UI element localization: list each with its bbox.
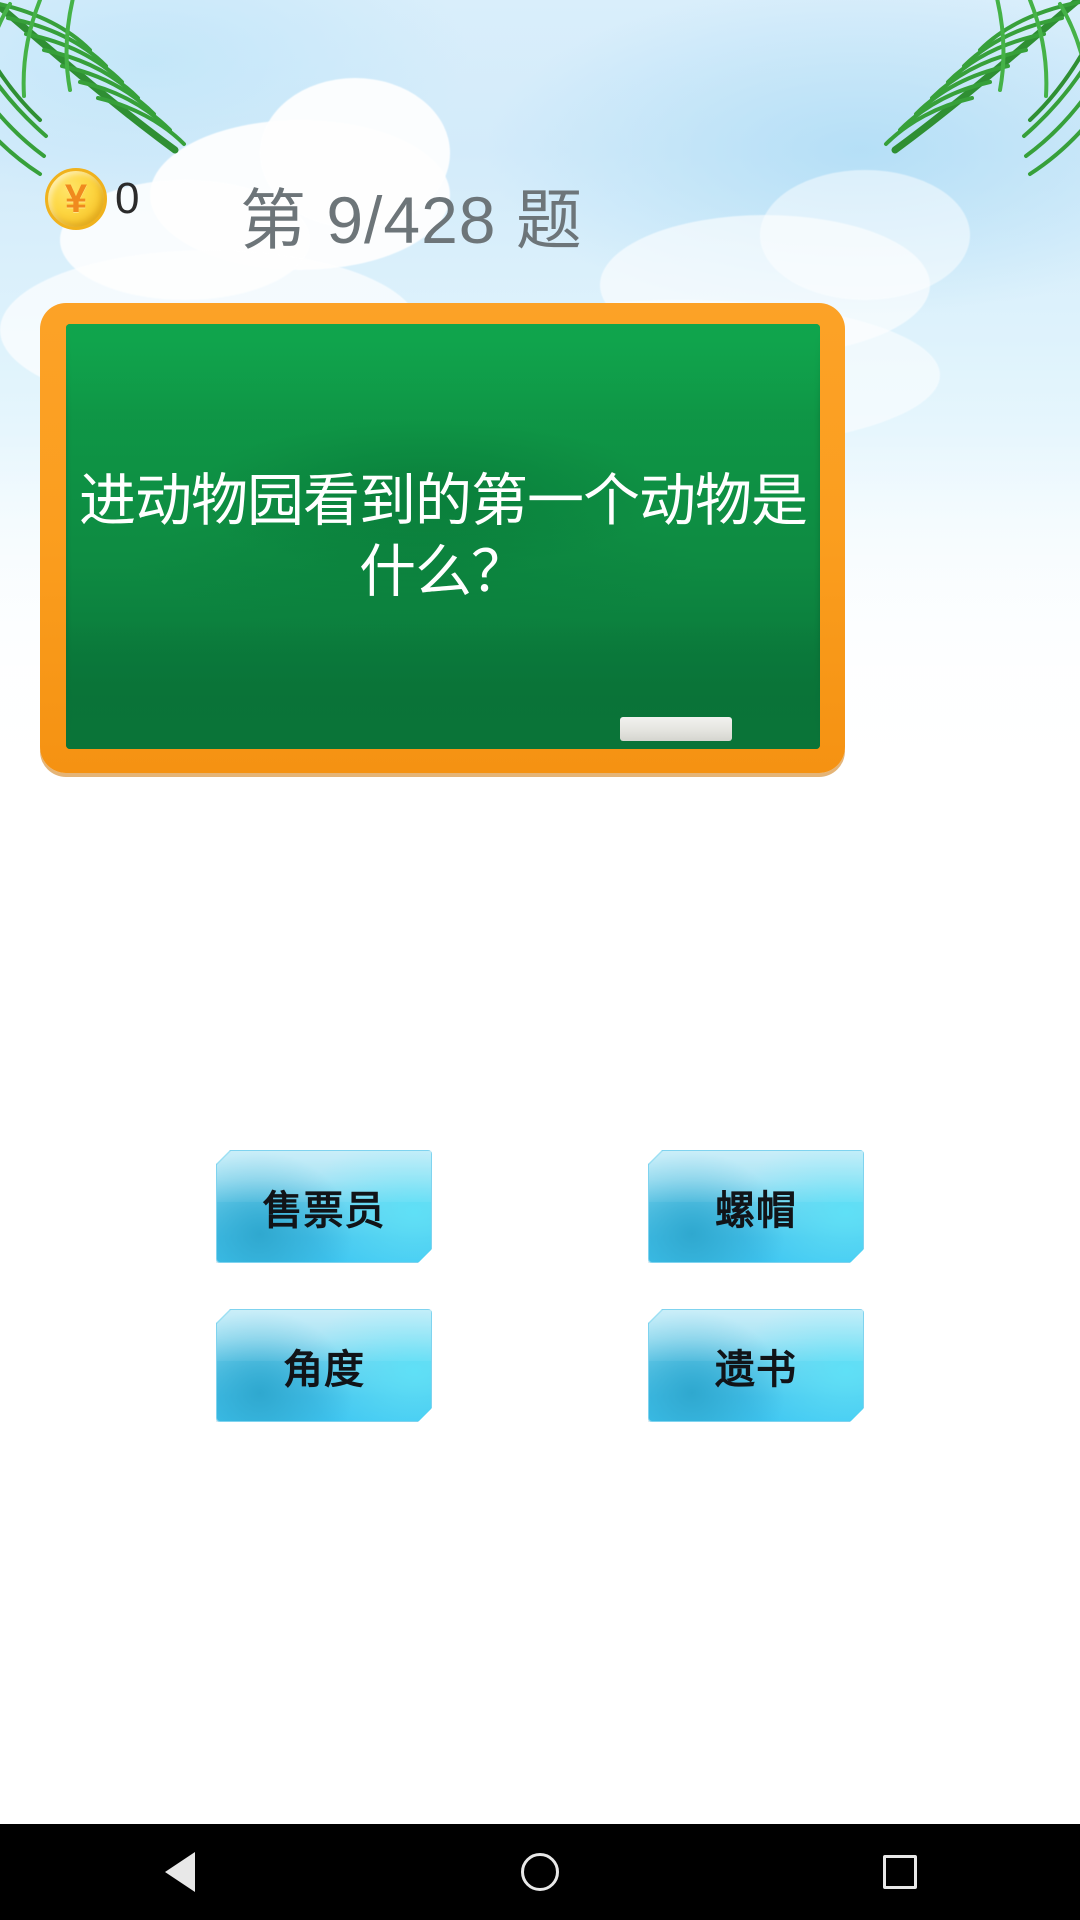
game-screen: ¥ 0 第 9/428 题 进动物园看到的第一个动物是什么？ 售票员 螺帽 角度… bbox=[0, 0, 1080, 1920]
android-navigation-bar bbox=[0, 1824, 1080, 1920]
coin-counter[interactable]: ¥ 0 bbox=[45, 168, 139, 230]
answer-label: 遗书 bbox=[715, 1337, 797, 1395]
nav-home-button[interactable] bbox=[485, 1824, 595, 1920]
board-highlight bbox=[66, 324, 820, 416]
coin-yen-icon: ¥ bbox=[45, 168, 107, 230]
nav-recents-button[interactable] bbox=[845, 1824, 955, 1920]
answer-option-1[interactable]: 售票员 bbox=[216, 1150, 432, 1263]
answer-label: 螺帽 bbox=[715, 1178, 797, 1236]
answer-option-3[interactable]: 角度 bbox=[216, 1309, 432, 1422]
answer-option-4[interactable]: 遗书 bbox=[648, 1309, 864, 1422]
cloud-shape bbox=[560, 790, 960, 930]
coin-symbol: ¥ bbox=[65, 179, 87, 219]
cloud-shape bbox=[120, 800, 540, 950]
back-triangle-icon bbox=[165, 1852, 195, 1892]
page-title: 第 9/428 题 bbox=[240, 160, 800, 270]
recents-square-icon bbox=[883, 1855, 917, 1889]
header-bar: ¥ 0 第 9/428 题 bbox=[0, 160, 1080, 270]
question-text: 进动物园看到的第一个动物是什么？ bbox=[66, 465, 820, 608]
chalk-eraser-icon bbox=[620, 717, 732, 741]
home-circle-icon bbox=[521, 1853, 559, 1891]
nav-back-button[interactable] bbox=[125, 1824, 235, 1920]
blackboard-frame: 进动物园看到的第一个动物是什么？ bbox=[40, 303, 845, 773]
answer-options-grid: 售票员 螺帽 角度 遗书 bbox=[0, 1150, 1080, 1422]
answer-label: 售票员 bbox=[263, 1178, 386, 1236]
answer-option-2[interactable]: 螺帽 bbox=[648, 1150, 864, 1263]
coin-count-label: 0 bbox=[115, 174, 139, 224]
answer-label: 角度 bbox=[283, 1337, 365, 1395]
blackboard: 进动物园看到的第一个动物是什么？ bbox=[66, 324, 820, 749]
